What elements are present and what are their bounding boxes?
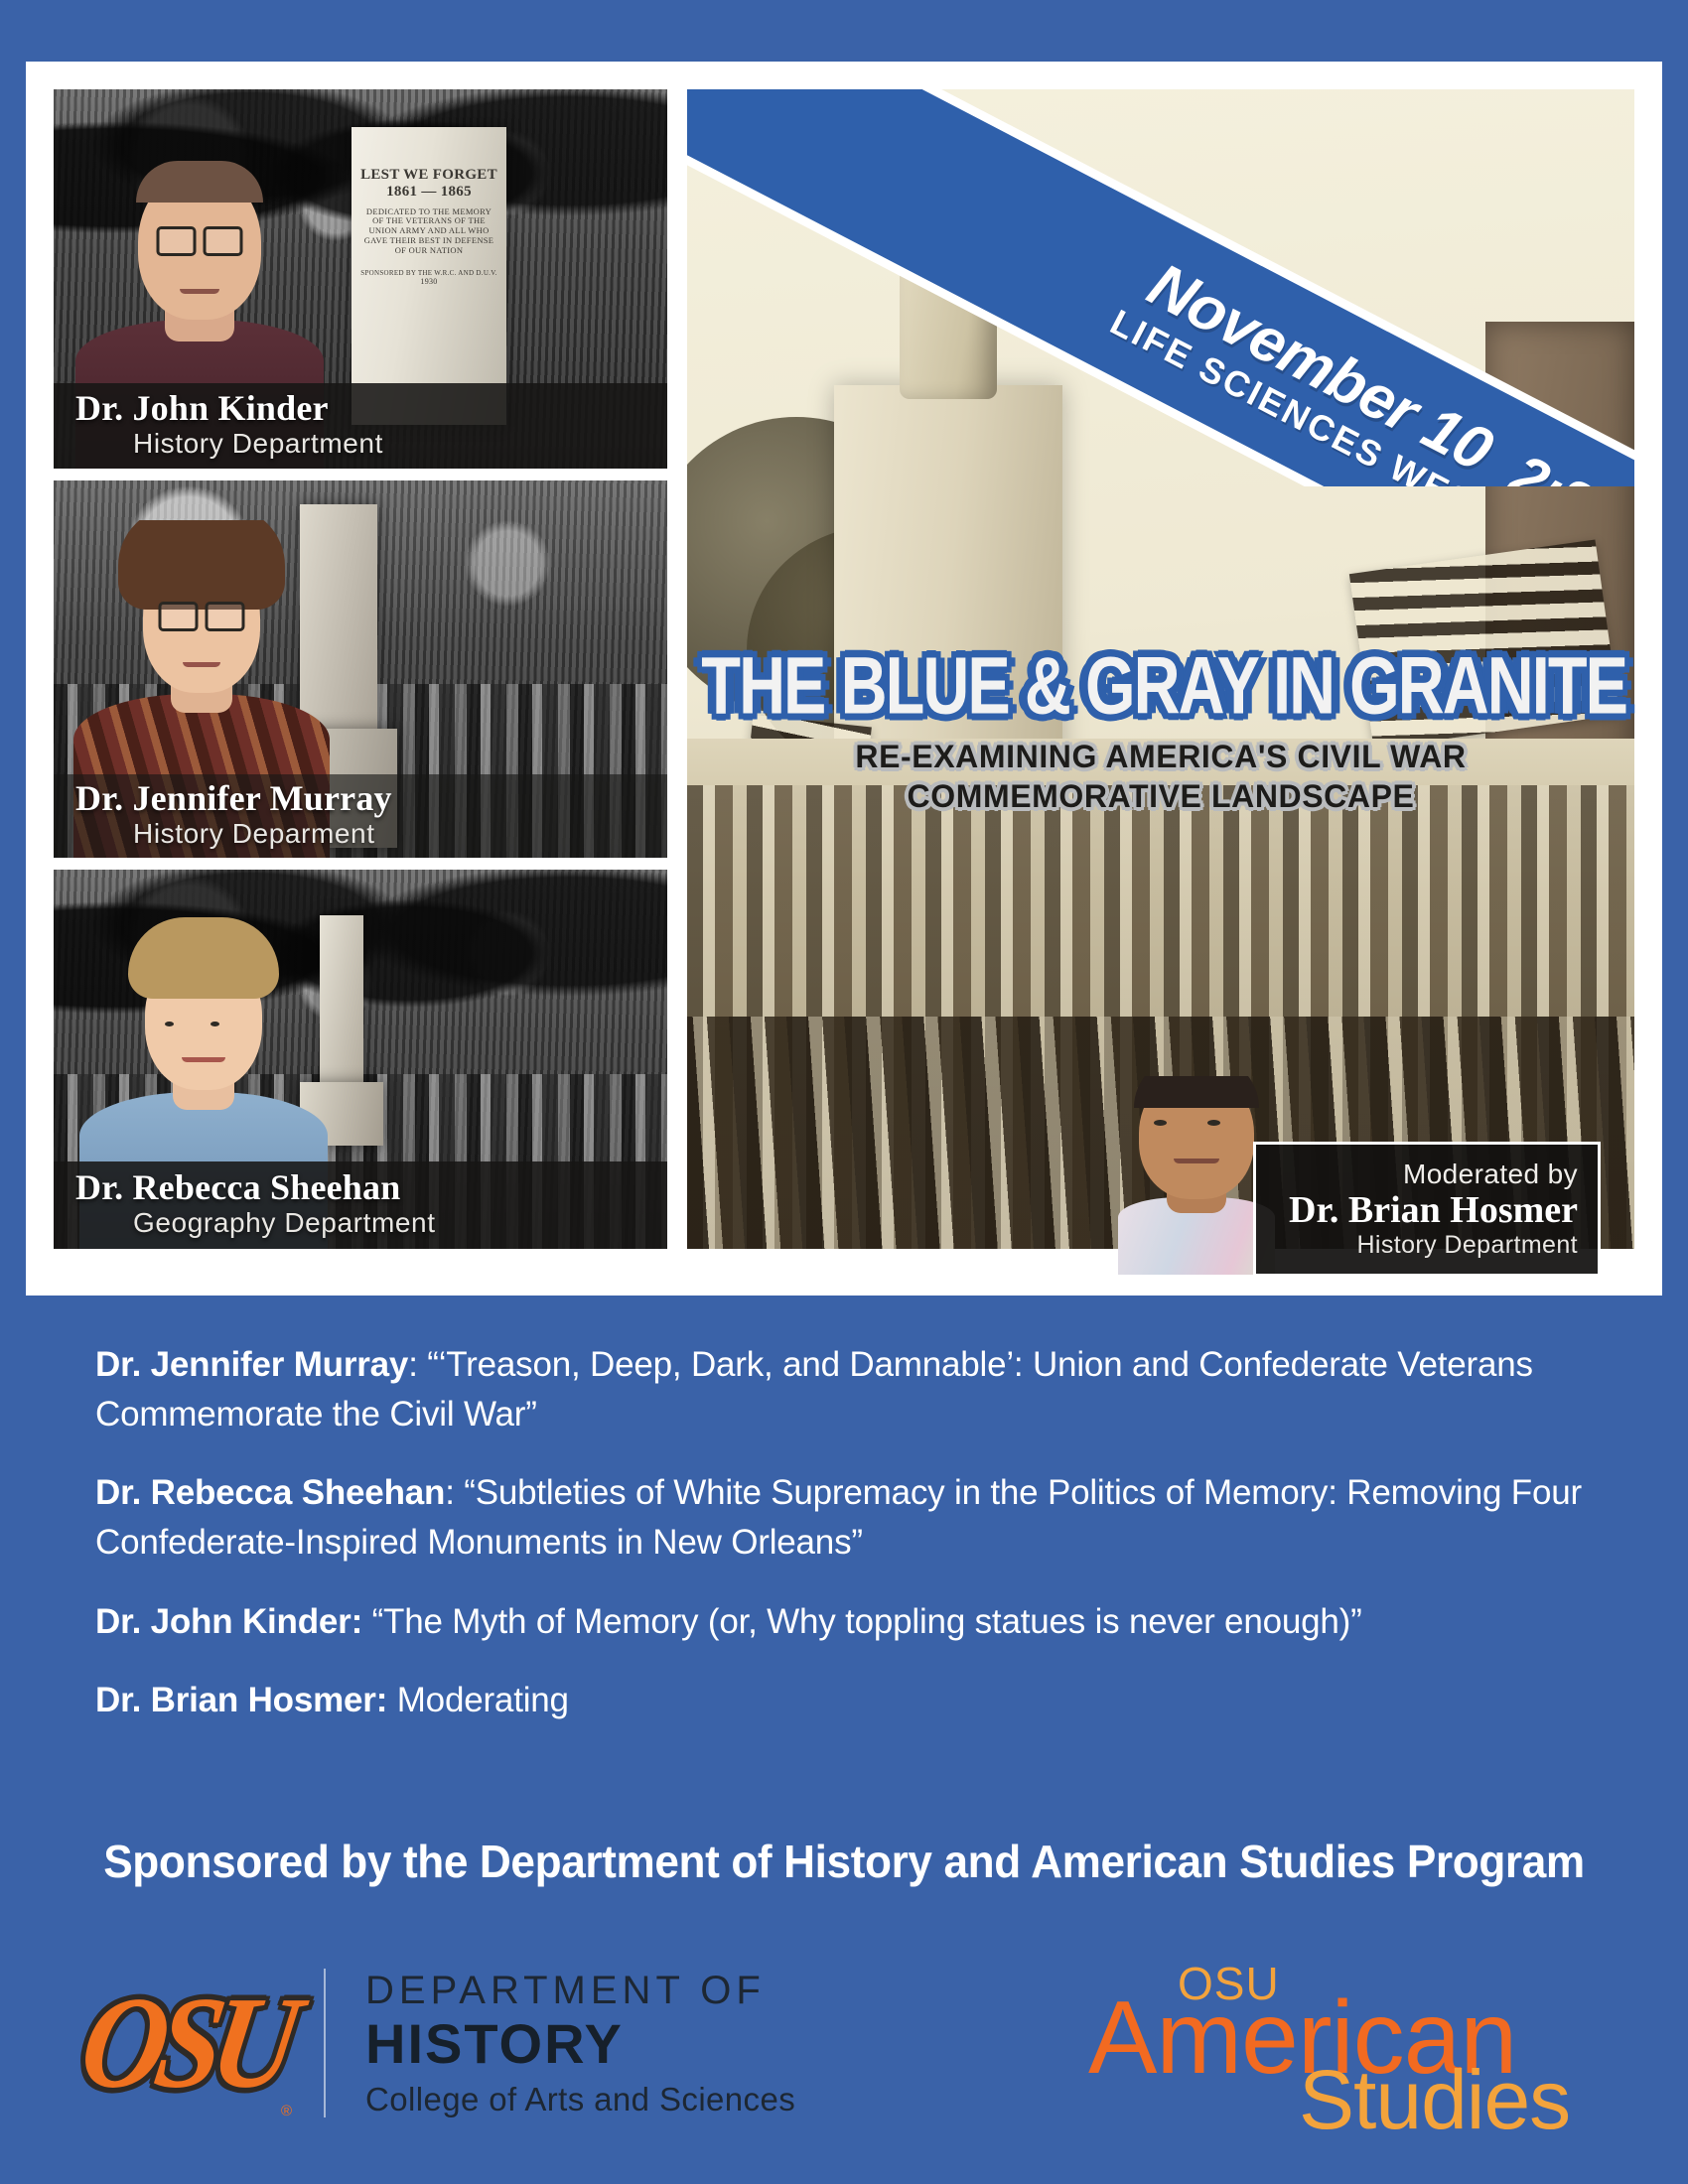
department-line-3: College of Arts and Sciences	[365, 2080, 795, 2119]
sponsor-line: Sponsored by the Department of History a…	[34, 1835, 1654, 1888]
monument-year: 1930	[352, 277, 506, 286]
moderator-nameplate: Moderated by Dr. Brian Hosmer History De…	[1253, 1142, 1601, 1277]
talk-item: Dr. Jennifer Murray: “‘Treason, Deep, Da…	[95, 1340, 1595, 1438]
moderator-department: History Department	[1356, 1232, 1578, 1258]
monument-years: 1861 — 1865	[352, 184, 506, 201]
talk-speaker: Dr. John Kinder:	[95, 1602, 362, 1641]
moderator-label: Moderated by	[1403, 1160, 1578, 1188]
talk-speaker: Dr. Brian Hosmer:	[95, 1681, 387, 1719]
speaker-name: Dr. Jennifer Murray	[75, 780, 667, 816]
registered-trademark-icon: ®	[281, 2103, 292, 2119]
osu-history-logo-group: OSU ® DEPARTMENT OF HISTORY College of A…	[77, 1949, 795, 2137]
department-line-2: HISTORY	[365, 2013, 795, 2076]
footer-logos: OSU ® DEPARTMENT OF HISTORY College of A…	[0, 1941, 1688, 2169]
nameplate-john-kinder: Dr. John Kinder History Department	[54, 383, 667, 469]
nameplate-jennifer-murray: Dr. Jennifer Murray History Deparment	[54, 774, 667, 858]
american-flag-right	[1349, 539, 1619, 749]
talk-separator	[387, 1681, 397, 1719]
monument-headline: LEST WE FORGET	[352, 167, 506, 184]
osu-american-studies-logo: OSU American Studies	[1082, 1951, 1549, 2149]
photo-collage-panel: LEST WE FORGET 1861 — 1865 DEDICATED TO …	[26, 62, 1662, 1296]
speaker-department: History Deparment	[133, 819, 667, 848]
moderator-name: Dr. Brian Hosmer	[1289, 1191, 1578, 1231]
soldier-statue-body	[900, 149, 997, 399]
osu-brand-icon: OSU ®	[77, 1949, 294, 2137]
talk-item: Dr. Rebecca Sheehan: “Subtleties of Whit…	[95, 1468, 1595, 1567]
talk-title: Moderating	[397, 1681, 569, 1719]
speaker-photo-jennifer-murray: Dr. Jennifer Murray History Deparment	[54, 480, 667, 858]
talk-list: Dr. Jennifer Murray: “‘Treason, Deep, Da…	[95, 1340, 1595, 1755]
speaker-photo-john-kinder: LEST WE FORGET 1861 — 1865 DEDICATED TO …	[54, 89, 667, 469]
osu-mark-text: OSU	[61, 1938, 311, 2149]
department-wordmark: DEPARTMENT OF HISTORY College of Arts an…	[365, 1968, 795, 2118]
talk-item: Dr. Brian Hosmer: Moderating	[95, 1676, 1595, 1725]
talk-speaker: Dr. Jennifer Murray	[95, 1345, 408, 1384]
speaker-department: History Department	[133, 429, 667, 458]
nameplate-rebecca-sheehan: Dr. Rebecca Sheehan Geography Department	[54, 1161, 667, 1249]
logo-divider	[324, 1969, 326, 2117]
speaker-photo-rebecca-sheehan: Dr. Rebecca Sheehan Geography Department	[54, 870, 667, 1249]
talk-separator	[362, 1602, 372, 1641]
talk-speaker: Dr. Rebecca Sheehan	[95, 1473, 445, 1512]
speaker-name: Dr. John Kinder	[75, 390, 667, 426]
talk-separator: :	[445, 1473, 464, 1512]
speaker-name: Dr. Rebecca Sheehan	[75, 1169, 667, 1205]
monument-line-5: OF OUR NATION	[352, 246, 506, 256]
american-studies-studies-text: Studies	[1299, 2058, 1570, 2141]
talk-item: Dr. John Kinder: “The Myth of Memory (or…	[95, 1597, 1595, 1647]
speaker-department: Geography Department	[133, 1208, 667, 1237]
department-line-1: DEPARTMENT OF	[365, 1968, 795, 2013]
hero-monument-photo: DEDICATED TO THE MEMORY OF OUR HEROES WH…	[687, 89, 1634, 1249]
monument-sponsor: SPONSORED BY THE W.R.C. AND D.U.V.	[352, 269, 506, 277]
portrait-brian-hosmer	[1118, 1076, 1275, 1275]
talk-title: “The Myth of Memory (or, Why toppling st…	[372, 1602, 1362, 1641]
soldier-statue-head	[921, 105, 975, 167]
monument-obelisk: LEST WE FORGET 1861 — 1865 DEDICATED TO …	[352, 127, 506, 425]
talk-separator: :	[408, 1345, 427, 1384]
